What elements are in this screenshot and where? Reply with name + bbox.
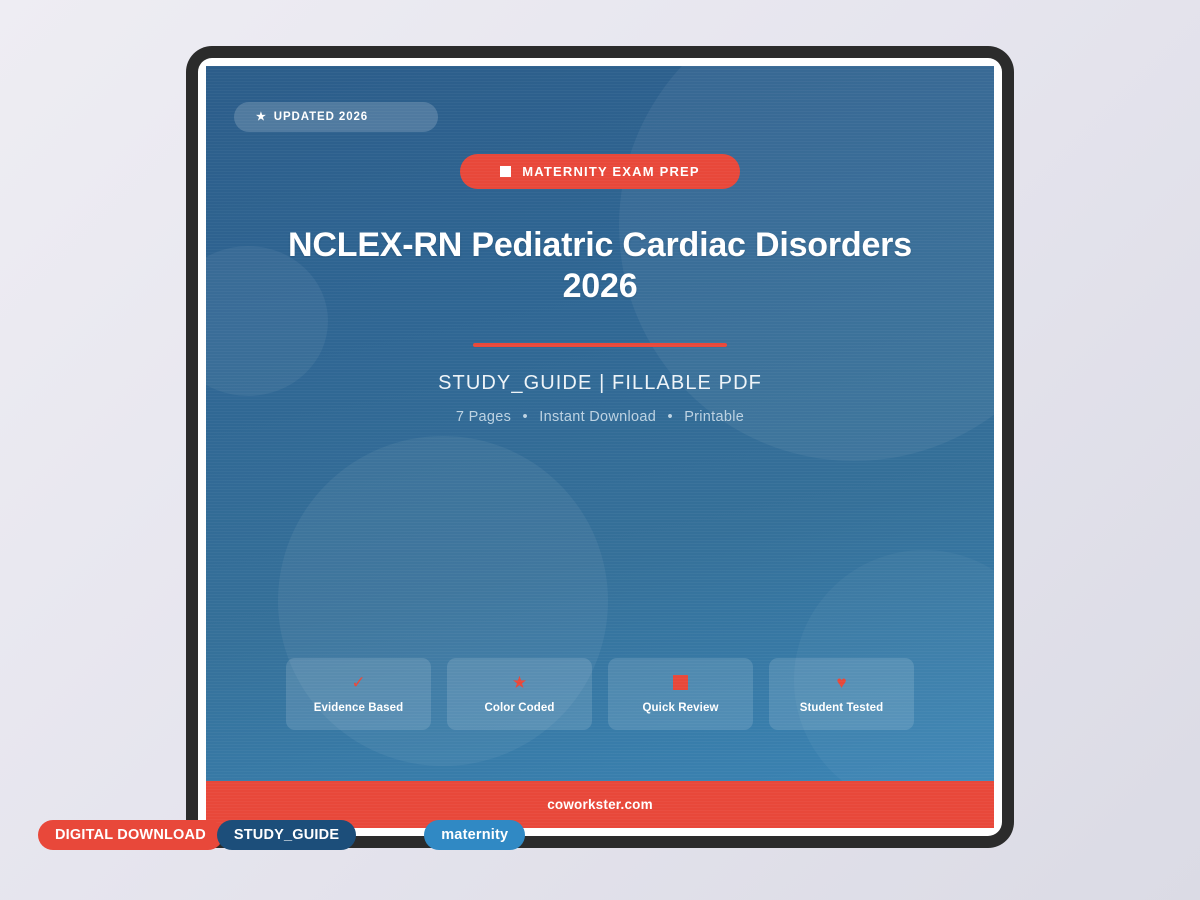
tag-study-guide[interactable]: STUDY_GUIDE (217, 820, 356, 850)
title-divider (473, 343, 727, 347)
device-frame: ★ UPDATED 2026 MATERNITY EXAM PREP NCLEX… (186, 46, 1014, 848)
feature-card: ♥ Student Tested (769, 658, 914, 730)
feature-card-label: Quick Review (643, 702, 719, 714)
tag-strip: DIGITAL DOWNLOAD STUDY_GUIDE maternity (38, 820, 525, 850)
star-icon: ★ (512, 674, 527, 691)
feature-card: ✓ Evidence Based (286, 658, 431, 730)
meta-pages: 7 Pages (456, 409, 511, 425)
meta-printable: Printable (684, 409, 744, 425)
feature-card-label: Student Tested (800, 702, 884, 714)
feature-card-label: Color Coded (484, 702, 554, 714)
feature-card-label: Evidence Based (314, 702, 404, 714)
format-line: STUDY_GUIDE | FILLABLE PDF (206, 372, 994, 395)
meta-separator-1: • (516, 409, 535, 425)
footer-site-label: coworkster.com (547, 797, 653, 812)
square-icon (673, 674, 688, 691)
meta-separator-2: • (660, 409, 679, 425)
poster-content: MATERNITY EXAM PREP NCLEX-RN Pediatric C… (206, 66, 994, 425)
tag-digital-download[interactable]: DIGITAL DOWNLOAD (38, 820, 223, 850)
page-title: NCLEX-RN Pediatric Cardiac Disorders 202… (206, 225, 994, 307)
feature-card: Quick Review (608, 658, 753, 730)
feature-card-list: ✓ Evidence Based ★ Color Coded Quick Rev… (206, 658, 994, 730)
category-pill-label: MATERNITY EXAM PREP (522, 164, 700, 179)
category-pill: MATERNITY EXAM PREP (460, 154, 740, 189)
meta-line: 7 Pages • Instant Download • Printable (206, 409, 994, 425)
meta-delivery: Instant Download (539, 409, 656, 425)
square-icon (500, 166, 511, 177)
check-icon: ✓ (351, 674, 365, 691)
tag-maternity[interactable]: maternity (424, 820, 525, 850)
device-screen: ★ UPDATED 2026 MATERNITY EXAM PREP NCLEX… (198, 58, 1002, 836)
feature-card: ★ Color Coded (447, 658, 592, 730)
heart-icon: ♥ (836, 674, 846, 691)
poster-canvas: ★ UPDATED 2026 MATERNITY EXAM PREP NCLEX… (206, 66, 994, 828)
